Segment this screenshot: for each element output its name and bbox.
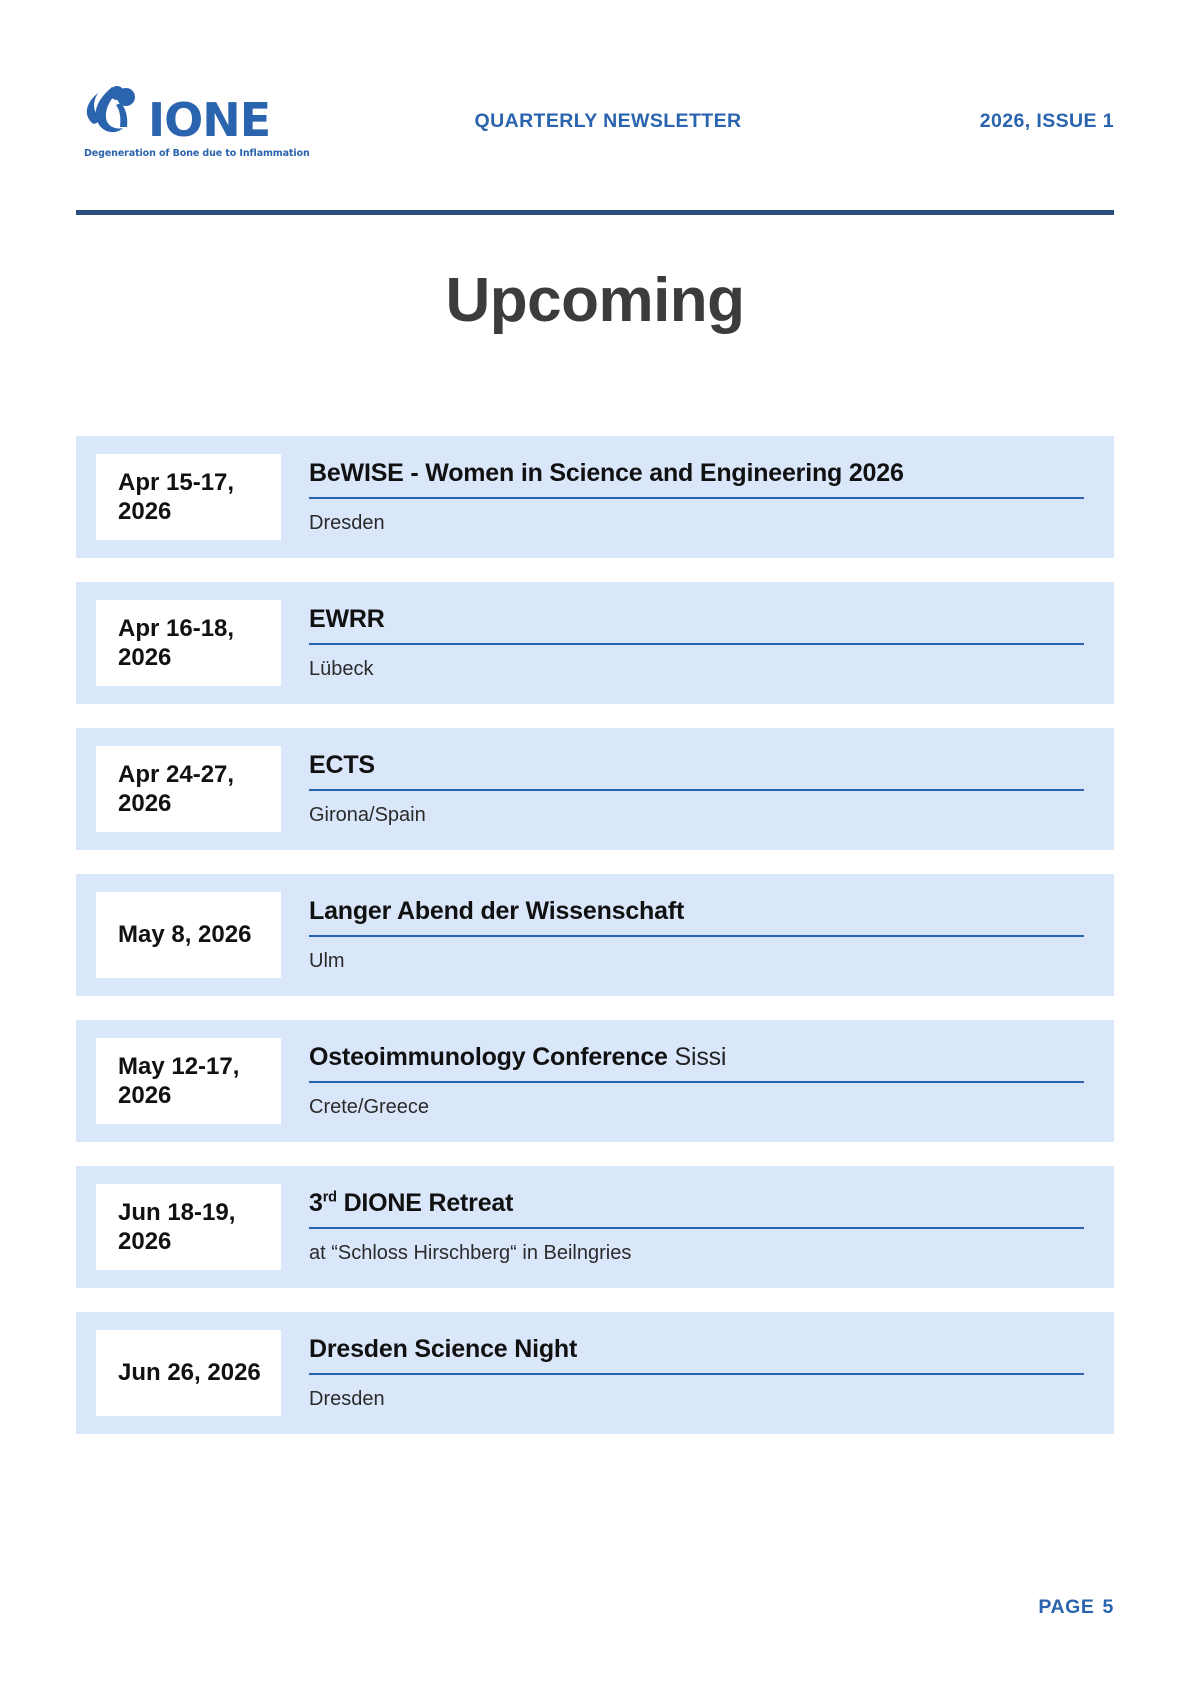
event-title: Dresden Science Night [309, 1335, 1084, 1364]
event-title: BeWISE - Women in Science and Engineerin… [309, 459, 1084, 488]
event-row: May 8, 2026 Langer Abend der Wissenschaf… [76, 874, 1114, 996]
event-row: Jun 26, 2026 Dresden Science Night Dresd… [76, 1312, 1114, 1434]
event-row: Apr 15-17, 2026 BeWISE - Women in Scienc… [76, 436, 1114, 558]
event-location: Ulm [309, 949, 1084, 973]
event-row: May 12-17, 2026 Osteoimmunology Conferen… [76, 1020, 1114, 1142]
event-date: Apr 15-17, 2026 [96, 454, 281, 540]
event-row: Jun 18-19, 2026 3rd DIONE Retreat at “Sc… [76, 1166, 1114, 1288]
event-date: Apr 24-27, 2026 [96, 746, 281, 832]
event-title-underline [309, 935, 1084, 937]
event-title: EWRR [309, 605, 1084, 634]
newsletter-kicker: QUARTERLY NEWSLETTER [354, 110, 862, 133]
event-title-underline [309, 643, 1084, 645]
event-body: Langer Abend der Wissenschaft Ulm [281, 897, 1092, 973]
event-title: Osteoimmunology Conference Sissi [309, 1043, 1084, 1072]
page-title: Upcoming [76, 265, 1114, 336]
dione-flame-bone-logo-icon [76, 83, 152, 143]
event-date: May 12-17, 2026 [96, 1038, 281, 1124]
event-title-underline [309, 497, 1084, 499]
event-title-underline [309, 1227, 1084, 1229]
event-location: Lübeck [309, 657, 1084, 681]
brand-logo: IONE Degeneration of Bone due to Inflamm… [76, 83, 376, 159]
event-title-underline [309, 1373, 1084, 1375]
event-date: Jun 26, 2026 [96, 1330, 281, 1416]
event-title-ordinal-suffix: rd [323, 1190, 337, 1206]
newsletter-page: IONE Degeneration of Bone due to Inflamm… [0, 0, 1190, 1683]
event-title-underline [309, 1081, 1084, 1083]
masthead-right: 2026, ISSUE 1 [884, 110, 1114, 133]
event-row: Apr 24-27, 2026 ECTS Girona/Spain [76, 728, 1114, 850]
event-body: ECTS Girona/Spain [281, 751, 1092, 827]
event-title-suffix: Sissi [675, 1043, 727, 1071]
event-body: Dresden Science Night Dresden [281, 1335, 1092, 1411]
event-title: ECTS [309, 751, 1084, 780]
event-body: Osteoimmunology Conference Sissi Crete/G… [281, 1043, 1092, 1119]
event-date: May 8, 2026 [96, 892, 281, 978]
event-list: Apr 15-17, 2026 BeWISE - Women in Scienc… [76, 436, 1114, 1434]
event-body: BeWISE - Women in Science and Engineerin… [281, 459, 1092, 535]
event-location: at “Schloss Hirschberg“ in Beilngries [309, 1241, 1084, 1265]
event-title-ordinal: 3 [309, 1189, 323, 1217]
footer-page-number: 5 [1103, 1596, 1114, 1618]
issue-label: 2026, ISSUE 1 [884, 110, 1114, 133]
event-title-underline [309, 789, 1084, 791]
masthead: IONE Degeneration of Bone due to Inflamm… [76, 0, 1114, 176]
event-title-main: DIONE Retreat [344, 1189, 514, 1217]
page-footer: PAGE5 [1038, 1596, 1114, 1619]
event-location: Dresden [309, 511, 1084, 535]
event-date: Jun 18-19, 2026 [96, 1184, 281, 1270]
logo-tagline: Degeneration of Bone due to Inflammation [84, 148, 310, 159]
logo-mark: IONE [76, 83, 270, 143]
event-row: Apr 16-18, 2026 EWRR Lübeck [76, 582, 1114, 704]
event-location: Dresden [309, 1387, 1084, 1411]
masthead-center: QUARTERLY NEWSLETTER [354, 110, 862, 133]
footer-page-label: PAGE [1038, 1596, 1094, 1618]
event-location: Crete/Greece [309, 1095, 1084, 1119]
event-title: 3rd DIONE Retreat [309, 1189, 1084, 1218]
event-date: Apr 16-18, 2026 [96, 600, 281, 686]
event-body: 3rd DIONE Retreat at “Schloss Hirschberg… [281, 1189, 1092, 1265]
event-title: Langer Abend der Wissenschaft [309, 897, 1084, 926]
event-location: Girona/Spain [309, 803, 1084, 827]
event-body: EWRR Lübeck [281, 605, 1092, 681]
event-title-main: Osteoimmunology Conference [309, 1043, 668, 1071]
header-divider [76, 210, 1114, 215]
logo-wordmark: IONE [148, 99, 270, 143]
